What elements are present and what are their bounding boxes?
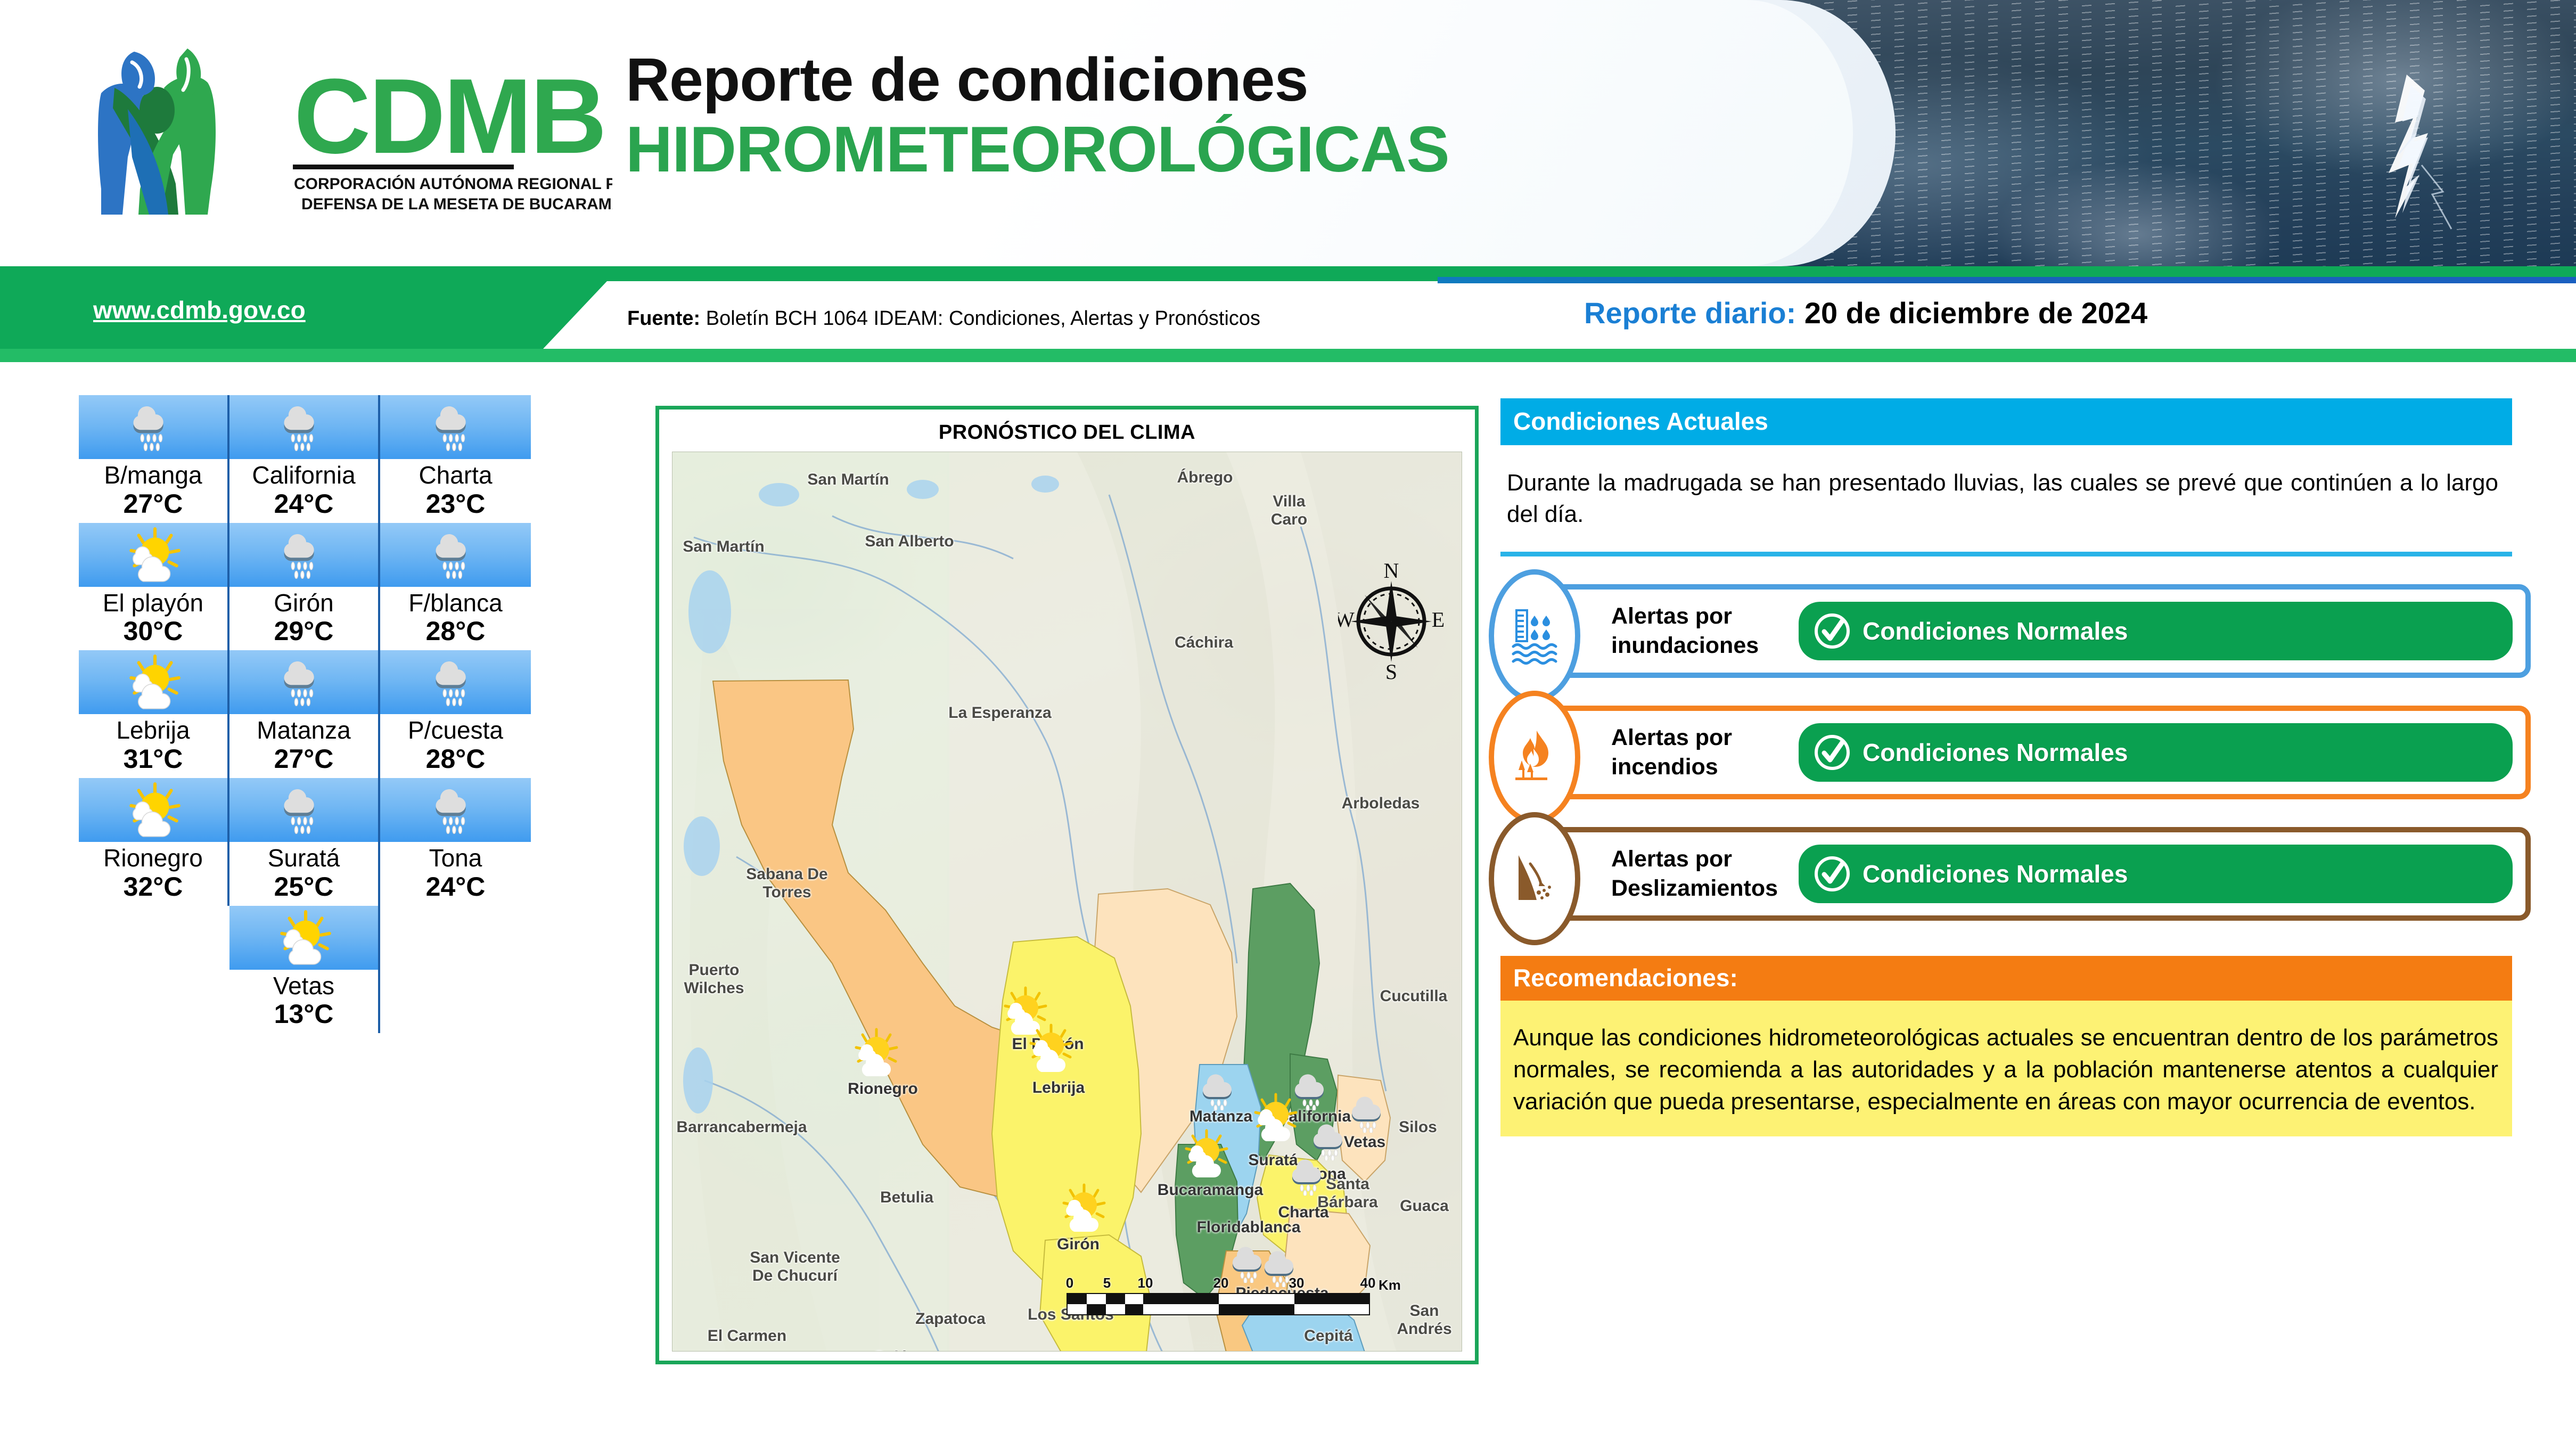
rain-cloud-icon (1310, 1118, 1355, 1160)
logo-subtitle-line2: DEFENSA DE LA MESETA DE BUCARAMANGA (301, 195, 612, 213)
svg-text:CDMB: CDMB (294, 57, 605, 176)
forecast-icon (380, 906, 531, 970)
title-line-1: Reporte de condiciones (626, 48, 1449, 113)
sun-cloud-icon (272, 910, 336, 966)
sun-cloud-icon (121, 782, 185, 838)
forecast-icon (380, 650, 531, 714)
forecast-icon (380, 523, 531, 587)
map-place-label: Arboledas (1342, 795, 1420, 813)
forecast-label: California24°C (229, 459, 380, 523)
rain-cloud-icon (280, 526, 329, 584)
rain-cloud-icon (431, 526, 480, 584)
fire-badge (1489, 691, 1580, 824)
current-conditions-text: Durante la madrugada se han presentado l… (1500, 445, 2512, 552)
rain-cloud-icon (431, 781, 480, 839)
map-place-label: Galán (873, 1348, 917, 1352)
forecast-label (79, 970, 229, 1034)
forecast-temp: 27°C (79, 489, 227, 519)
report-date-value: 20 de diciembre de 2024 (1796, 296, 2147, 330)
forecast-icon (380, 778, 531, 842)
forecast-city: Suratá (229, 845, 378, 872)
alert-fire[interactable]: Alertas por incendios Condiciones Normal… (1532, 706, 2531, 799)
alert-landslide-status: Condiciones Normales (1799, 845, 2513, 903)
forecast-icon (229, 906, 380, 970)
forecast-city: Girón (229, 590, 378, 617)
forecast-icon (229, 523, 380, 587)
forecast-cell-empty (79, 906, 229, 1034)
forecast-cell[interactable]: Suratá25°C (229, 778, 380, 906)
forecast-city: F/blanca (380, 590, 531, 617)
rain-cloud-icon (280, 781, 329, 839)
forecast-label: Lebrija31°C (79, 714, 229, 778)
recommendations-text: Aunque las condiciones hidrometeorológic… (1500, 1001, 2512, 1136)
report-date-label: Reporte diario: (1584, 296, 1796, 330)
forecast-temp: 28°C (380, 744, 531, 774)
scale-blocks (1067, 1293, 1370, 1315)
forecast-city: Lebrija (79, 717, 227, 744)
source-label: Fuente: (627, 307, 700, 330)
map-municipality-label: Floridablanca (1196, 1218, 1300, 1237)
source-text: Fuente: Boletín BCH 1064 IDEAM: Condicio… (627, 307, 1260, 330)
check-circle-icon (1811, 853, 1853, 895)
forecast-city: Charta (380, 462, 531, 489)
svg-text:E: E (1432, 608, 1445, 632)
landslide-icon (1509, 849, 1560, 908)
forecast-label: Charta23°C (380, 459, 531, 523)
landslide-badge (1489, 812, 1580, 945)
alert-fire-title: Alertas por incendios (1611, 723, 1787, 782)
forecast-city: California (229, 462, 378, 489)
recommendations-header: Recomendaciones: (1500, 956, 2512, 1001)
forecast-label: B/manga27°C (79, 459, 229, 523)
page-title: Reporte de condiciones HIDROMETEOROLÓGIC… (626, 48, 1449, 183)
map-place-label: Barrancabermeja (676, 1118, 807, 1136)
header: CDMB CORPORACIÓN AUTÓNOMA REGIONAL PARA … (0, 0, 2576, 266)
report-date: Reporte diario: 20 de diciembre de 2024 (1584, 296, 2147, 330)
map-place-label: Cepitá (1304, 1327, 1353, 1345)
map-municipality-label: Girón (1057, 1235, 1100, 1254)
forecast-map-panel: PRONÓSTICO DEL CLIMA (655, 406, 1479, 1364)
flood-badge (1489, 569, 1580, 702)
weather-report-page: CDMB CORPORACIÓN AUTÓNOMA REGIONAL PARA … (0, 0, 2576, 1449)
sun-cloud-icon (1053, 1182, 1112, 1235)
forecast-cell[interactable]: El playón30°C (79, 523, 229, 651)
forecast-city: Rionegro (79, 845, 227, 872)
forecast-label: P/cuesta28°C (380, 714, 531, 778)
alert-landslide-title-line1: Alertas por (1611, 845, 1787, 874)
alert-fire-title-line1: Alertas por (1611, 723, 1787, 752)
fire-icon (1509, 727, 1560, 787)
check-circle-icon (1811, 610, 1853, 652)
forecast-city: Matanza (229, 717, 378, 744)
title-line-2: HIDROMETEOROLÓGICAS (626, 115, 1449, 183)
svg-text:W: W (1338, 608, 1355, 632)
map-municipality-label: Rionegro (848, 1080, 918, 1098)
map-place-label: San Martín (807, 471, 889, 489)
sun-cloud-icon (1020, 1022, 1079, 1075)
forecast-label (380, 970, 531, 1034)
map-place-label: Sabana DeTorres (746, 865, 827, 902)
forecast-temp: 13°C (229, 999, 378, 1029)
forecast-icon (79, 650, 229, 714)
alert-flood-title-line2: inundaciones (1611, 631, 1787, 660)
map-place-label: San VicenteDe Chucurí (750, 1249, 840, 1285)
forecast-temp: 28°C (380, 616, 531, 646)
forecast-icon (229, 650, 380, 714)
forecast-icon (79, 906, 229, 970)
check-circle-icon (1811, 732, 1853, 773)
map-scale-bar: 05 1020 3040 Km (1067, 1275, 1397, 1315)
map-place-label: La Esperanza (948, 704, 1051, 722)
forecast-cell[interactable]: Charta23°C (380, 395, 531, 523)
map-place-label: VillaCaro (1271, 493, 1307, 529)
forecast-city: El playón (79, 590, 227, 617)
map-place-label: Cucutilla (1380, 987, 1448, 1005)
map-place-label: Silos (1399, 1118, 1437, 1136)
sun-cloud-icon (1176, 1127, 1234, 1181)
rain-cloud-icon (431, 398, 480, 456)
forecast-temp: 24°C (229, 489, 378, 519)
info-bar-blue-strip (1438, 277, 2576, 283)
alert-fire-status-text: Condiciones Normales (1863, 738, 2128, 767)
forecast-cell[interactable]: Vetas13°C (229, 906, 380, 1034)
logo-subtitle-line1: CORPORACIÓN AUTÓNOMA REGIONAL PARA LA (294, 175, 612, 193)
map-place-label: Ábrego (1177, 469, 1233, 487)
current-conditions-header: Condiciones Actuales (1500, 398, 2512, 445)
forecast-temp: 31°C (79, 744, 227, 774)
forecast-cell[interactable]: Rionegro32°C (79, 778, 229, 906)
cdmb-logo: CDMB CORPORACIÓN AUTÓNOMA REGIONAL PARA … (64, 29, 612, 229)
map-place-label: San Martín (683, 538, 764, 556)
map-place-label: Zapatoca (915, 1310, 986, 1328)
alert-flood-title: Alertas por inundaciones (1611, 602, 1787, 660)
forecast-label: Suratá25°C (229, 842, 380, 906)
lightning-bolt-icon (2358, 59, 2496, 256)
map-canvas[interactable]: San Martín San Martín San Alberto Ábrego… (672, 452, 1462, 1352)
sun-cloud-icon (121, 527, 185, 583)
alert-landslide-title-line2: Deslizamientos (1611, 874, 1787, 903)
forecast-city: P/cuesta (380, 717, 531, 744)
forecast-temp: 27°C (229, 744, 378, 774)
sun-cloud-icon (121, 654, 185, 710)
alert-landslide[interactable]: Alertas por Deslizamientos Condiciones N… (1532, 827, 2531, 921)
flood-gauge-icon (1509, 606, 1560, 666)
svg-text:S: S (1385, 660, 1397, 681)
scale-ticks: 05 1020 3040 (1067, 1275, 1397, 1293)
rain-cloud-icon (431, 653, 480, 711)
alert-landslide-status-text: Condiciones Normales (1863, 859, 2128, 888)
forecast-cell[interactable]: Tona24°C (380, 778, 531, 906)
alert-fire-status: Condiciones Normales (1799, 723, 2513, 782)
forecast-city: B/manga (79, 462, 227, 489)
forecast-label: Rionegro32°C (79, 842, 229, 906)
forecast-temp: 30°C (79, 616, 227, 646)
forecast-temp: 23°C (380, 489, 531, 519)
svg-text:N: N (1384, 559, 1399, 583)
info-bar-underline (0, 349, 2576, 362)
forecast-icon (79, 778, 229, 842)
source-value: Boletín BCH 1064 IDEAM: Condiciones, Ale… (700, 307, 1260, 330)
forecast-label: Matanza27°C (229, 714, 380, 778)
map-place-label: Cáchira (1175, 634, 1233, 652)
alert-landslide-title: Alertas por Deslizamientos (1611, 845, 1787, 903)
alert-flood-status-text: Condiciones Normales (1863, 617, 2128, 645)
right-panel: Condiciones Actuales Durante la madrugad… (1500, 398, 2533, 1136)
forecast-icon (79, 523, 229, 587)
map-municipality-label: Lebrija (1032, 1079, 1085, 1097)
alert-flood[interactable]: Alertas por inundaciones Condiciones Nor… (1532, 584, 2531, 678)
forecast-label: F/blanca28°C (380, 587, 531, 651)
map-place-label: Betulia (880, 1189, 933, 1207)
forecast-label: El playón30°C (79, 587, 229, 651)
rain-cloud-icon (280, 653, 329, 711)
forecast-cell[interactable]: Matanza27°C (229, 650, 380, 778)
map-municipality-label: Bucaramanga (1158, 1181, 1263, 1199)
forecast-temp: 25°C (229, 872, 378, 902)
forecast-cell[interactable]: B/manga27°C (79, 395, 229, 523)
section-divider (1500, 552, 2512, 556)
map-place-label: El Carmen (708, 1327, 786, 1345)
map-place-label: Guaca (1400, 1197, 1449, 1215)
scale-unit: Km (1379, 1277, 1401, 1294)
map-title: PRONÓSTICO DEL CLIMA (659, 410, 1475, 452)
forecast-cell[interactable]: P/cuesta28°C (380, 650, 531, 778)
map-place-label: San Alberto (865, 533, 954, 551)
alert-fire-title-line2: incendios (1611, 752, 1787, 782)
forecast-cell-empty (380, 906, 531, 1034)
forecast-label: Tona24°C (380, 842, 531, 906)
forecast-cell[interactable]: Girón29°C (229, 523, 380, 651)
forecast-city: Tona (380, 845, 531, 872)
alert-flood-title-line1: Alertas por (1611, 602, 1787, 631)
forecast-temp: 32°C (79, 872, 227, 902)
forecast-label: Vetas13°C (229, 970, 380, 1034)
storm-photo (1777, 0, 2576, 266)
sun-cloud-icon (846, 1026, 904, 1079)
forecast-icon (229, 395, 380, 459)
alert-flood-status: Condiciones Normales (1799, 602, 2513, 660)
forecast-label: Girón29°C (229, 587, 380, 651)
rain-cloud-icon (1200, 1068, 1244, 1110)
forecast-grid: B/manga27°C California24°C Charta23°C El… (79, 395, 531, 1033)
compass-rose-icon: N S W E (1338, 559, 1445, 681)
rain-cloud-icon (1292, 1068, 1336, 1110)
forecast-cell[interactable]: Lebrija31°C (79, 650, 229, 778)
forecast-icon (380, 395, 531, 459)
map-place-label: PuertoWilches (684, 961, 744, 997)
map-municipality-label: Matanza (1189, 1108, 1252, 1126)
rain-cloud-icon (1349, 1090, 1393, 1133)
forecast-temp: 24°C (380, 872, 531, 902)
forecast-icon (79, 395, 229, 459)
forecast-temp: 29°C (229, 616, 378, 646)
forecast-icon (229, 778, 380, 842)
website-link[interactable]: www.cdmb.gov.co (93, 296, 306, 324)
rain-cloud-icon (280, 398, 329, 456)
forecast-cell[interactable]: California24°C (229, 395, 380, 523)
rain-cloud-icon (129, 398, 178, 456)
map-place-label: SanAndrés (1397, 1302, 1451, 1338)
forecast-cell[interactable]: F/blanca28°C (380, 523, 531, 651)
forecast-city: Vetas (229, 973, 378, 1000)
